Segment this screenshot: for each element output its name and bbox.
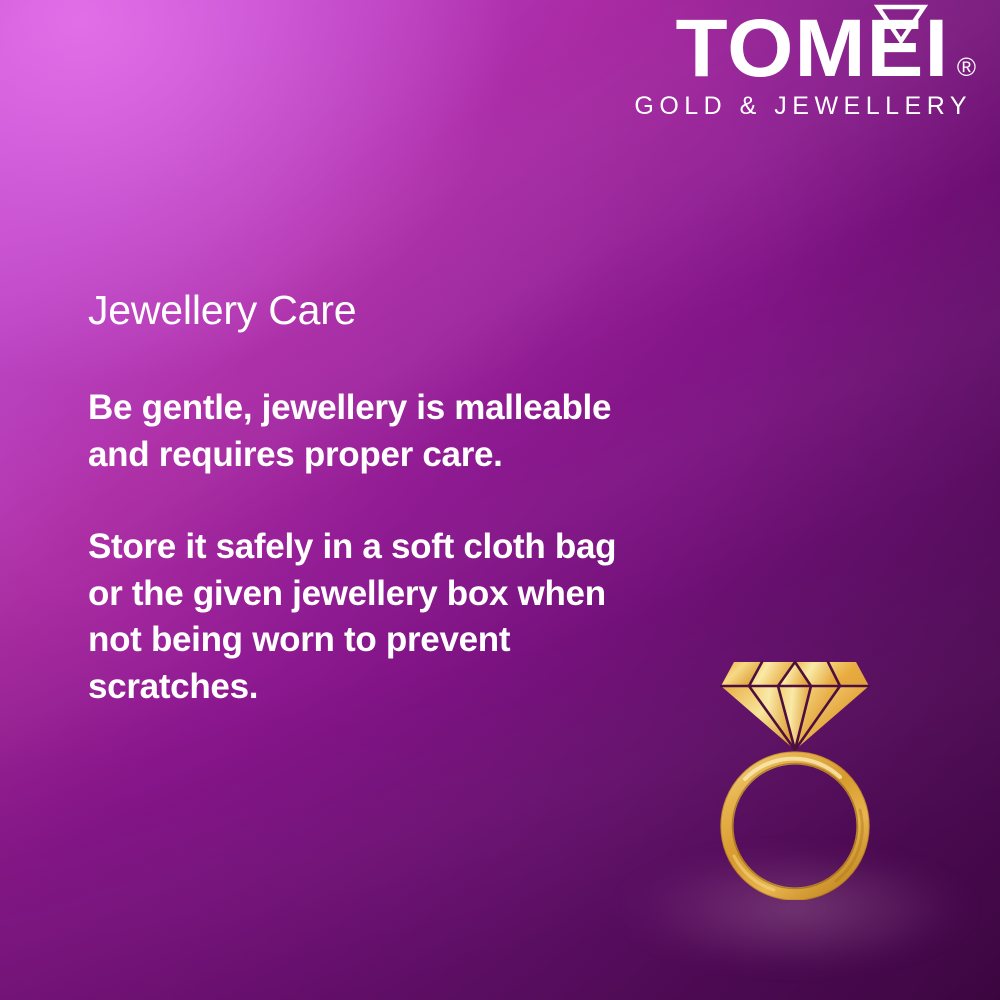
body-paragraph-2: Store it safely in a soft cloth bag or t… <box>88 524 648 710</box>
diamond-gem-icon <box>721 662 869 750</box>
diamond-ring-illustration <box>690 638 900 900</box>
body-paragraph-1: Be gentle, jewellery is malleable and re… <box>88 385 648 478</box>
logo-wordmark-row: TOMEI ® <box>628 10 976 88</box>
logo-wordmark-text: TOMEI <box>675 10 949 88</box>
tomei-logo: TOMEI ® GOLD & JEWELLERY <box>628 10 976 121</box>
logo-tagline: GOLD & JEWELLERY <box>628 92 976 121</box>
gold-ring-band-icon <box>721 752 869 900</box>
copy-block: Jewellery Care Be gentle, jewellery is m… <box>88 288 648 710</box>
page-title: Jewellery Care <box>88 288 648 333</box>
registered-trademark-icon: ® <box>957 54 976 80</box>
jewellery-care-poster: TOMEI ® GOLD & JEWELLERY Jewellery Care … <box>0 0 1000 1000</box>
